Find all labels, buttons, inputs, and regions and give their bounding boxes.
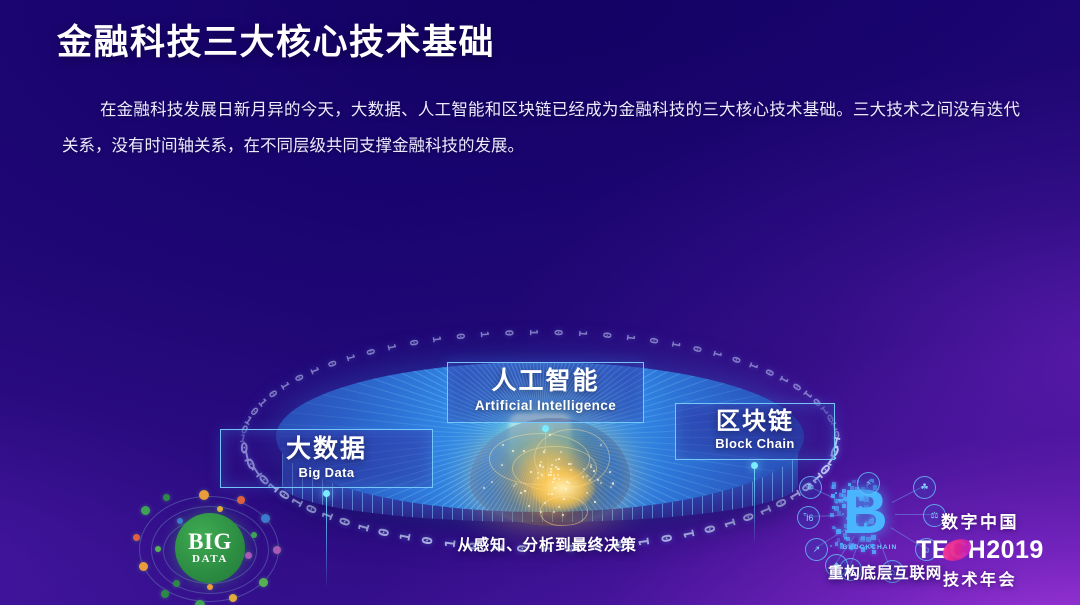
blockchain-pixel [832, 482, 836, 486]
brain-spark [563, 498, 565, 500]
blockchain-pixel [847, 506, 850, 509]
binary-digit: 0 [647, 336, 661, 345]
binary-digit: 1 [576, 330, 589, 337]
blockchain-pixel [834, 506, 839, 511]
blockchain-pixel [850, 543, 855, 548]
binary-digit: 1 [527, 329, 540, 336]
blockchain-icon-node: ⚡ [857, 472, 880, 495]
blockchain-pixel [857, 493, 861, 497]
binary-digit: 1 [242, 414, 255, 428]
brain-spark [570, 463, 572, 465]
bigdata-node-icon [177, 518, 183, 524]
blockchain-pixel [837, 538, 841, 542]
blockchain-pixel [839, 499, 843, 503]
pillar-title-en-bigdata: Big Data [221, 464, 432, 481]
bigdata-circle: BIG DATA [175, 513, 245, 583]
brain-spark [551, 493, 553, 495]
binary-digit: 0 [502, 329, 515, 336]
blockchain-pixel [853, 491, 857, 495]
binary-digit: 1 [384, 343, 398, 352]
logo-mid-label: TECH2019 [916, 536, 1044, 564]
bigdata-node-icon [139, 562, 148, 571]
blockchain-pixel [842, 489, 846, 493]
logo-bottom-text: 技术年会 [900, 566, 1060, 590]
blockchain-pixel [847, 496, 850, 499]
brain-spark [562, 514, 564, 516]
blockchain-pixel [835, 492, 837, 494]
blockchain-pixel [852, 480, 856, 484]
brain-spark [568, 482, 570, 484]
bigdata-node-icon [245, 552, 252, 559]
bigdata-node-icon [133, 534, 140, 541]
bigdata-node-icon [229, 594, 237, 602]
blockchain-pixel [869, 519, 874, 524]
connector-knob-icon [751, 462, 758, 469]
blockchain-pixel [846, 537, 850, 541]
brain-spark [483, 487, 485, 489]
brain-spark [610, 486, 612, 488]
bigdata-node-icon [207, 584, 213, 590]
blockchain-pixel [832, 485, 836, 489]
pillar-title-cn-ai: 人工智能 [448, 366, 643, 397]
bigdata-emblem: BIG DATA [133, 488, 285, 605]
logo-top-text: 数字中国 [900, 508, 1060, 533]
bigdata-emblem-secondary: DATA [192, 553, 228, 566]
blockchain-pixel [840, 543, 843, 546]
blockchain-pixel [850, 496, 854, 500]
bigdata-node-icon [173, 580, 180, 587]
brain-spark [600, 482, 602, 484]
blockchain-pixel [855, 525, 858, 528]
brain-spark [586, 475, 588, 477]
brain-spark [582, 476, 584, 478]
bigdata-node-icon [261, 514, 270, 523]
page-title: 金融科技三大核心技术基础 [57, 14, 495, 65]
brain-spark [549, 434, 551, 436]
caption-ai: 从感知、分析到最终决策 [432, 533, 662, 555]
bigdata-node-icon [199, 490, 209, 500]
blockchain-icon-node: ☘ [913, 476, 936, 499]
bigdata-node-icon [251, 532, 257, 538]
blockchain-pixel [832, 526, 835, 529]
brain-spark [609, 471, 611, 473]
brain-spark [502, 444, 504, 446]
blockchain-pixel [844, 524, 848, 528]
blockchain-pixel [850, 486, 854, 490]
connector-ai [545, 428, 546, 486]
blockchain-pixel [835, 542, 838, 545]
bigdata-node-icon [273, 546, 281, 554]
blockchain-pixel [831, 494, 835, 498]
blockchain-pixel [842, 513, 844, 515]
conference-logo: 数字中国 TECH2019 技术年会 [900, 508, 1060, 592]
pillar-box-bigdata[interactable]: 大数据 Big Data [220, 429, 433, 488]
blockchain-pixel [872, 550, 876, 554]
blockchain-pixel [848, 483, 851, 486]
brain-spark [523, 450, 525, 452]
bigdata-node-icon [237, 496, 245, 504]
pillar-title-en-blockchain: Block Chain [676, 436, 834, 452]
blockchain-pixel [849, 510, 852, 513]
blockchain-icon-node: Ἶ6 [797, 506, 820, 529]
blockchain-pixel [855, 513, 858, 516]
brain-spark [513, 485, 515, 487]
binary-digit: 1 [624, 333, 638, 341]
binary-digit: 0 [690, 344, 704, 354]
blockchain-icon-node: ↻ [799, 476, 822, 499]
blockchain-pixel [866, 537, 871, 542]
blockchain-pixel [861, 536, 865, 540]
blockchain-pixel [865, 521, 869, 525]
connector-knob-icon [323, 490, 330, 497]
blockchain-pixel [830, 545, 832, 547]
blockchain-pixel [843, 533, 847, 537]
blockchain-pixel [864, 505, 869, 510]
brain-spark [515, 483, 517, 485]
brain-spark [550, 474, 552, 476]
logo-mid-text: TECH2019 [916, 536, 1044, 565]
binary-digit: 0 [407, 338, 421, 347]
brain-spark [540, 461, 542, 463]
brain-spark [553, 511, 555, 513]
binary-digit: 1 [255, 396, 269, 409]
blockchain-pixel [858, 530, 860, 532]
brain-spark [491, 481, 493, 483]
bigdata-node-icon [141, 506, 150, 515]
bigdata-node-icon [259, 578, 268, 587]
binary-digit: 0 [600, 331, 614, 339]
blockchain-pixel [837, 511, 841, 515]
blockchain-pixel [859, 506, 862, 509]
pillar-title-en-ai: Artificial Intelligence [448, 397, 643, 414]
bigdata-node-icon [195, 600, 205, 605]
blockchain-pixel [861, 547, 866, 552]
binary-digit: 1 [669, 340, 683, 349]
pillar-box-blockchain[interactable]: 区块链 Block Chain [675, 403, 835, 460]
brain-stem [540, 496, 588, 526]
brain-spark [565, 488, 567, 490]
blockchain-icon-node: ↗ [805, 538, 828, 561]
blockchain-pixel [864, 497, 869, 502]
brain-shell [470, 418, 630, 526]
binary-digit: 0 [552, 329, 565, 336]
brain-spark [524, 490, 526, 492]
bigdata-node-icon [163, 494, 170, 501]
binary-digit: 0 [453, 332, 467, 340]
binary-digit: 0 [248, 405, 262, 419]
blockchain-pixel [846, 517, 850, 521]
brain-spark [554, 477, 556, 479]
slide-canvas: 金融科技三大核心技术基础 在金融科技发展日新月异的今天，大数据、人工智能和区块链… [0, 0, 1080, 605]
binary-digit: 1 [430, 335, 444, 343]
brain-spark [551, 464, 553, 466]
connector-knob-icon [542, 425, 549, 432]
brain-spark [597, 479, 599, 481]
brain-spark [539, 464, 541, 466]
pillar-title-cn-bigdata: 大数据 [221, 434, 432, 464]
blockchain-pixel [838, 530, 840, 532]
bigdata-node-icon [217, 506, 223, 512]
bigdata-node-icon [155, 546, 161, 552]
bigdata-node-icon [161, 590, 169, 598]
brain-spark [541, 474, 543, 476]
brain-spark [520, 492, 522, 494]
connector-blockchain [754, 465, 755, 543]
intro-paragraph: 在金融科技发展日新月异的今天，大数据、人工智能和区块链已经成为金融科技的三大核心… [62, 92, 1020, 164]
ai-brain-graphic [470, 418, 630, 526]
connector-bigdata [326, 493, 327, 587]
blockchain-pixel [842, 504, 846, 508]
pillar-box-ai[interactable]: 人工智能 Artificial Intelligence [447, 362, 644, 423]
binary-digit: 1 [478, 331, 491, 338]
bigdata-emblem-primary: BIG [188, 531, 232, 553]
blockchain-pixel [830, 513, 834, 517]
blockchain-pixel [852, 529, 855, 532]
blockchain-pixel [871, 544, 875, 548]
blockchain-pixel [871, 535, 876, 540]
brain-spark [594, 501, 596, 503]
pillar-title-cn-blockchain: 区块链 [676, 407, 834, 436]
brain-spark [528, 505, 530, 507]
